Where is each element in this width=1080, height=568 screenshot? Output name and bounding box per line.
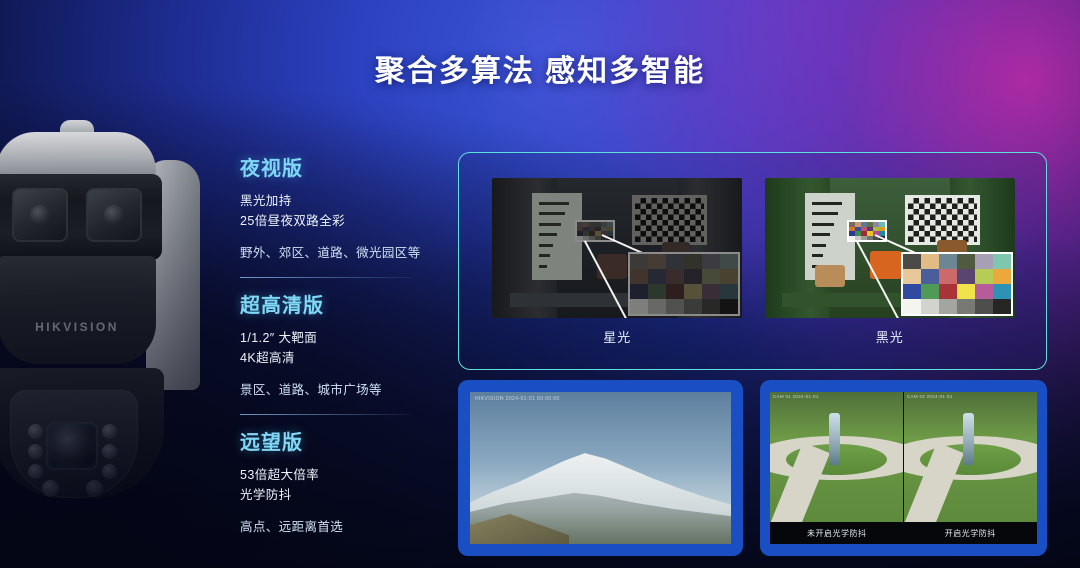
- camera-panoramic-band: [0, 174, 162, 260]
- camera-brand-label: HIKVISION: [0, 320, 156, 334]
- feature-divider-1: [240, 277, 412, 278]
- ir-led-7: [42, 480, 59, 497]
- night-label-blacklight: 黑光: [765, 327, 1015, 346]
- ir-led-3: [28, 464, 43, 479]
- feature-spec-night-1: 黑光加持: [240, 191, 440, 211]
- page-title: 聚合多算法 感知多智能: [0, 46, 1080, 90]
- fountain-statue: [829, 413, 841, 465]
- ir-led-8: [86, 480, 103, 497]
- ir-led-2: [28, 444, 43, 459]
- camera-dome-cap: [0, 132, 156, 178]
- ir-led-6: [102, 464, 117, 479]
- feature-scenes-night: 野外、郊区、道路、微光园区等: [240, 242, 440, 261]
- night-label-starlight: 星光: [492, 327, 742, 346]
- feature-ultra-hd: 超高清版 1/1.2″ 大靶面 4K超高清 景区、道路、城市广场等: [240, 277, 440, 398]
- stabilization-pane-off: CAM 01 2024-01-01: [770, 392, 903, 522]
- stabilization-osd-right: CAM 02 2024-01-01: [907, 394, 953, 399]
- slide-root: 聚合多算法 感知多智能 HIKVISION 夜视版 黑光加持 25倍昼夜双路全彩: [0, 0, 1080, 568]
- checkerboard-chart: [905, 195, 980, 245]
- colorchecker-zoom-large: [628, 252, 740, 316]
- ir-led-1: [28, 424, 43, 439]
- feature-divider-2: [240, 414, 412, 415]
- night-sample-starlight: 星光: [492, 178, 742, 346]
- stabilization-caption-on: 开启光学防抖: [904, 522, 1038, 544]
- colorchecker-zoom-large: [901, 252, 1013, 316]
- checkerboard-chart: [632, 195, 707, 245]
- feature-spec-uhd-2: 4K超高清: [240, 348, 440, 368]
- feature-title-long-range: 远望版: [240, 426, 440, 455]
- feature-night-vision: 夜视版 黑光加持 25倍昼夜双路全彩 野外、郊区、道路、微光园区等: [240, 152, 440, 261]
- panel-night-comparison: 星光: [458, 152, 1047, 370]
- fountain-statue: [963, 413, 975, 465]
- feature-list: 夜视版 黑光加持 25倍昼夜双路全彩 野外、郊区、道路、微光园区等 超高清版 1…: [240, 152, 440, 535]
- feature-spec-night-2: 25倍昼夜双路全彩: [240, 211, 440, 231]
- feature-spec-range-1: 53倍超大倍率: [240, 465, 440, 485]
- stabilization-osd-left: CAM 01 2024-01-01: [773, 394, 819, 399]
- ir-led-5: [102, 444, 117, 459]
- panel-mountain-sample: HIKVISION 2024-01-01 00:00:00: [458, 380, 743, 556]
- stabilization-pane-on: CAM 02 2024-01-01: [903, 392, 1037, 522]
- feature-title-night-vision: 夜视版: [240, 152, 440, 181]
- ir-led-4: [102, 424, 117, 439]
- panoramic-lens-right: [86, 188, 142, 242]
- feature-scenes-range: 高点、远距离首选: [240, 516, 440, 535]
- panel-stabilization-sample: CAM 01 2024-01-01 CAM 02 2024-01-01 未开启光…: [760, 380, 1047, 556]
- night-sample-blacklight: 黑光: [765, 178, 1015, 346]
- panoramic-lens-left: [12, 188, 68, 242]
- stabilization-comparison: CAM 01 2024-01-01 CAM 02 2024-01-01 未开启光…: [770, 392, 1037, 544]
- scene-object-4: [815, 265, 845, 287]
- camera-body: HIKVISION: [0, 256, 156, 364]
- camera-product-image: HIKVISION: [0, 118, 203, 568]
- feature-long-range: 远望版 53倍超大倍率 光学防抖 高点、远距离首选: [240, 414, 440, 535]
- stabilization-caption-off: 未开启光学防抖: [770, 522, 904, 544]
- mountain-osd-text: HIKVISION 2024-01-01 00:00:00: [475, 396, 560, 402]
- mountain-image: HIKVISION 2024-01-01 00:00:00: [470, 392, 731, 544]
- starlight-scene-image: [492, 178, 742, 318]
- feature-scenes-uhd: 景区、道路、城市广场等: [240, 379, 440, 398]
- feature-title-ultra-hd: 超高清版: [240, 289, 440, 318]
- camera-main-lens: [46, 422, 98, 470]
- feature-spec-uhd-1: 1/1.2″ 大靶面: [240, 328, 440, 348]
- blacklight-scene-image: [765, 178, 1015, 318]
- feature-spec-range-2: 光学防抖: [240, 485, 440, 505]
